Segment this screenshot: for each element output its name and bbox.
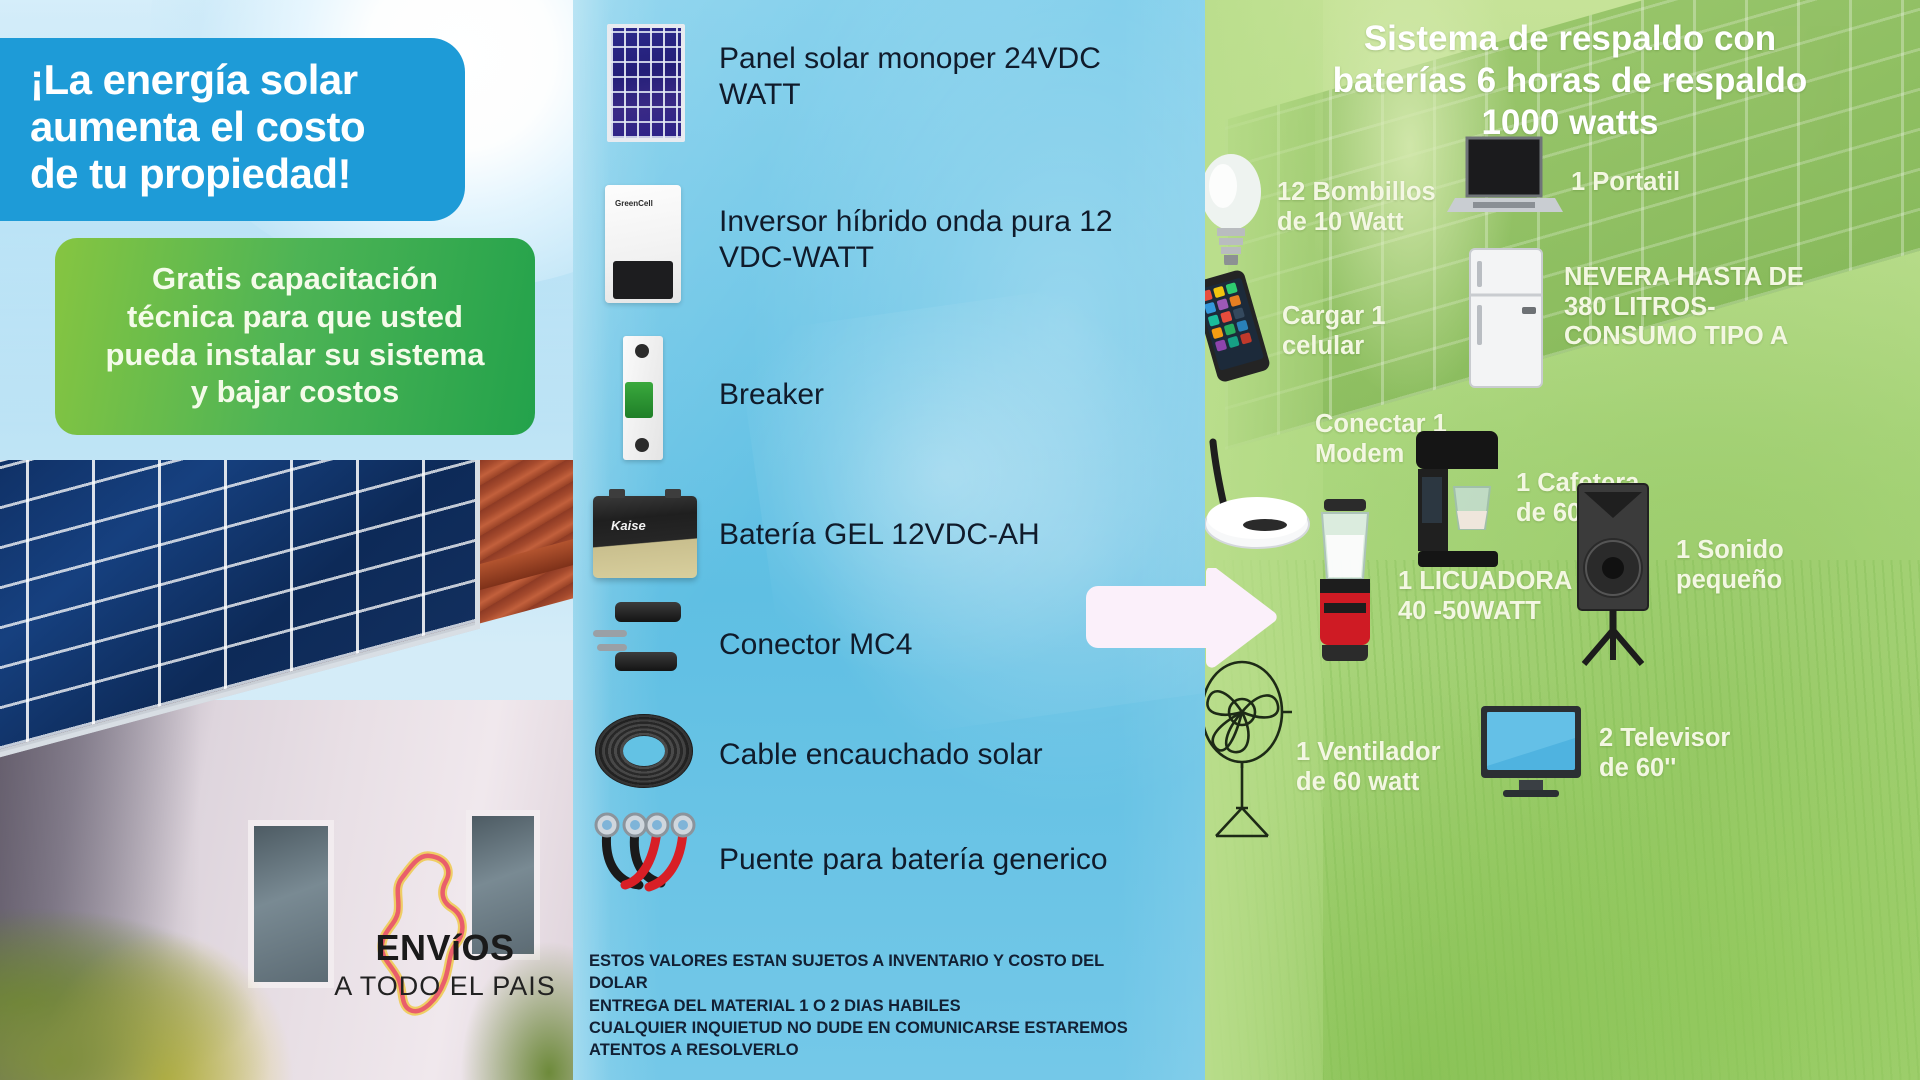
garden-bushes [0, 890, 300, 1080]
kit-item: GreenCell Inversor híbrido onda pura 12 … [589, 185, 1139, 295]
kit-item-label: Puente para batería generico [719, 842, 1139, 878]
appliance-label: Cargar 1 celular [1282, 270, 1490, 361]
disclaimer-line: DOLAR [589, 972, 1189, 994]
offer-line: y bajar costos [81, 373, 509, 411]
appliance-television: 2 Televisor de 60'' [1475, 700, 1875, 812]
shipping-title: ENVíOS [330, 927, 560, 969]
kit-item: Cable encauchado solar [589, 700, 1139, 810]
kit-item: Conector MC4 [589, 590, 1139, 700]
headline-line: de tu propiedad! [30, 150, 429, 197]
appliance-label: 1 Ventilador de 60 watt [1296, 660, 1490, 797]
headline-line: aumenta el costo [30, 103, 429, 150]
offer-line: técnica para que usted [81, 298, 509, 336]
disclaimer-block: ESTOS VALORES ESTAN SUJETOS A INVENTARIO… [589, 950, 1189, 1061]
appliance-laptop: 1 Portatil [1445, 132, 1765, 232]
shipping-subtitle: A TODO EL PAIS [330, 971, 560, 1002]
disclaimer-line: ESTOS VALORES ESTAN SUJETOS A INVENTARIO… [589, 950, 1189, 972]
breaker-icon [589, 340, 699, 450]
kit-item-label: Breaker [719, 377, 1139, 413]
offer-line: Gratis capacitación [81, 260, 509, 298]
laptop-icon [1445, 132, 1563, 232]
appliance-label: 1 Sonido pequeño [1676, 480, 1900, 595]
television-icon [1475, 700, 1587, 812]
inverter-icon: GreenCell [589, 185, 699, 295]
battery-icon: Kaise [589, 480, 699, 590]
kit-item: Panel solar monoper 24VDC WATT [589, 22, 1139, 132]
offer-line: pueda instalar su sistema [81, 336, 509, 374]
disclaimer-line: CUALQUIER INQUIETUD NO DUDE EN COMUNICAR… [589, 1017, 1189, 1039]
right-panel: Sistema de respaldo con baterías 6 horas… [1205, 0, 1920, 1080]
kit-item-label: Panel solar monoper 24VDC WATT [719, 41, 1139, 113]
inverter-brand: GreenCell [615, 199, 653, 208]
appliance-speaker: 1 Sonido pequeño [1560, 480, 1900, 670]
lightbulb-icon [1205, 150, 1267, 265]
kit-item: Breaker [589, 340, 1139, 450]
shipping-note: ENVíOS A TODO EL PAIS [330, 927, 560, 1002]
title-line: baterías 6 horas de respaldo [1260, 60, 1880, 102]
appliance-refrigerator: NEVERA HASTA DE 380 LITROS- CONSUMO TIPO… [1460, 245, 1920, 390]
right-panel-title: Sistema de respaldo con baterías 6 horas… [1260, 18, 1880, 144]
refrigerator-icon [1460, 245, 1552, 390]
smartphone-icon [1205, 270, 1272, 382]
appliance-label: NEVERA HASTA DE 380 LITROS- CONSUMO TIPO… [1564, 245, 1920, 352]
battery-bridge-icon [589, 805, 699, 915]
title-line: Sistema de respaldo con [1260, 18, 1880, 60]
blender-icon [1300, 495, 1390, 675]
solar-panel-icon [589, 22, 699, 132]
disclaimer-line: ENTREGA DEL MATERIAL 1 O 2 DIAS HABILES [589, 995, 1189, 1017]
kit-item-label: Batería GEL 12VDC-AH [719, 517, 1139, 553]
title-line: 1000 watts [1260, 102, 1880, 144]
left-panel: ¡La energía solar aumenta el costo de tu… [0, 0, 573, 1080]
kit-item-label: Conector MC4 [719, 627, 1139, 663]
appliance-fan: 1 Ventilador de 60 watt [1205, 660, 1490, 840]
kit-item: Puente para batería generico [589, 805, 1139, 915]
disclaimer-line: ATENTOS A RESOLVERLO [589, 1039, 1189, 1061]
headline-line: ¡La energía solar [30, 56, 429, 103]
cable-coil-icon [589, 700, 699, 810]
headline-banner: ¡La energía solar aumenta el costo de tu… [0, 38, 465, 221]
kit-item-label: Inversor híbrido onda pura 12 VDC-WATT [719, 204, 1139, 276]
mc4-connector-icon [589, 590, 699, 700]
center-panel: Panel solar monoper 24VDC WATT GreenCell… [573, 0, 1205, 1080]
appliance-label: 2 Televisor de 60'' [1599, 700, 1875, 783]
kit-item-label: Cable encauchado solar [719, 737, 1139, 773]
modem-icon [1205, 428, 1315, 558]
battery-brand: Kaise [611, 518, 646, 533]
infographic-poster: ¡La energía solar aumenta el costo de tu… [0, 0, 1920, 1080]
speaker-icon [1560, 480, 1665, 670]
appliance-smartphone: Cargar 1 celular [1205, 270, 1490, 382]
training-offer-banner: Gratis capacitación técnica para que ust… [55, 238, 535, 435]
kit-item: Kaise Batería GEL 12VDC-AH [589, 480, 1139, 590]
fan-icon [1205, 660, 1295, 840]
right-arrow-icon [1078, 568, 1278, 678]
